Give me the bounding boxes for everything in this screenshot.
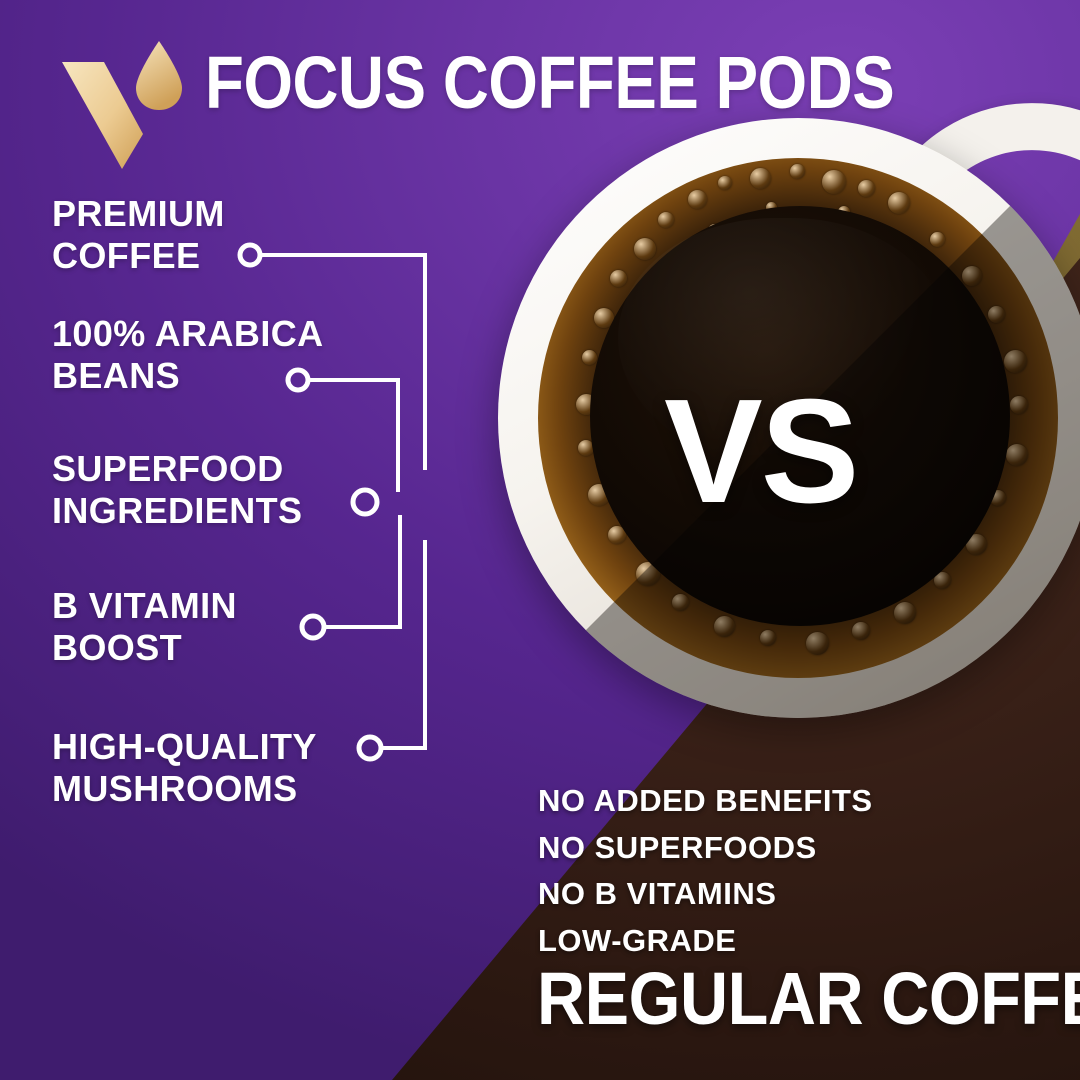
feature-label-b-vitamin-boost: B VITAMIN BOOST xyxy=(52,585,237,669)
feature-label-mushrooms: HIGH-QUALITY MUSHROOMS xyxy=(52,726,317,810)
feature-label-arabica-beans: 100% ARABICA BEANS xyxy=(52,313,324,397)
regular-coffee-headline: REGULAR COFFEE xyxy=(537,962,1080,1036)
drawback-item-1: NO ADDED BENEFITS xyxy=(538,778,873,825)
v-droplet-logo-icon xyxy=(60,38,185,170)
brand-logo[interactable] xyxy=(60,38,185,170)
vs-label: VS xyxy=(664,378,857,526)
infographic-canvas: FOCUS COFFEE PODS xyxy=(0,0,1080,1080)
feature-label-superfood-ingredients: SUPERFOOD INGREDIENTS xyxy=(52,448,302,532)
page-title: FOCUS COFFEE PODS xyxy=(205,46,894,120)
drawback-item-2: NO SUPERFOODS xyxy=(538,825,873,872)
drawback-item-3: NO B VITAMINS xyxy=(538,871,873,918)
feature-label-premium-coffee: PREMIUM COFFEE xyxy=(52,193,225,277)
drawbacks-list: NO ADDED BENEFITS NO SUPERFOODS NO B VIT… xyxy=(538,778,873,964)
